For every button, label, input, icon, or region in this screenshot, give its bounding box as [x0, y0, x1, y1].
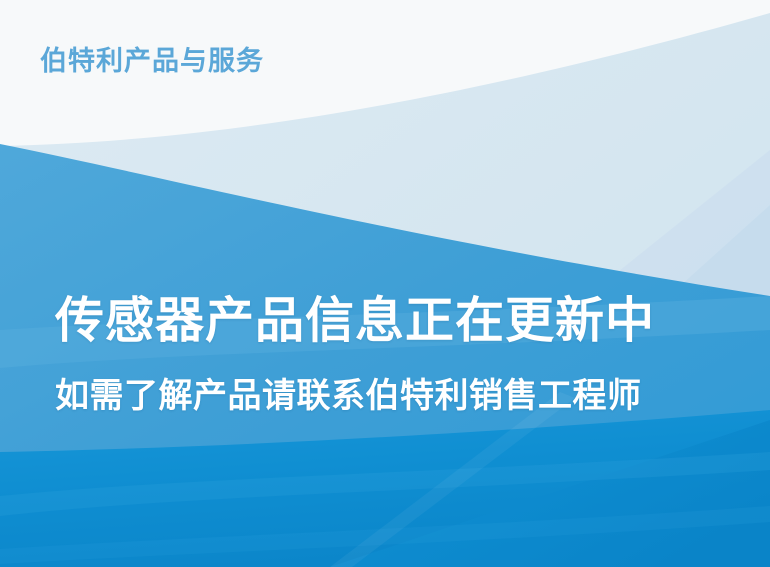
banner-sub-heading: 如需了解产品请联系伯特利销售工程师: [55, 376, 745, 417]
product-banner: 伯特利产品与服务 传感器产品信息正在更新中 如需了解产品请联系伯特利销售工程师: [0, 0, 770, 567]
banner-copy-block: 传感器产品信息正在更新中 如需了解产品请联系伯特利销售工程师: [55, 292, 745, 417]
banner-main-heading: 传感器产品信息正在更新中: [55, 292, 745, 350]
background-wave-artwork: [0, 0, 770, 567]
banner-header-title: 伯特利产品与服务: [40, 46, 264, 78]
